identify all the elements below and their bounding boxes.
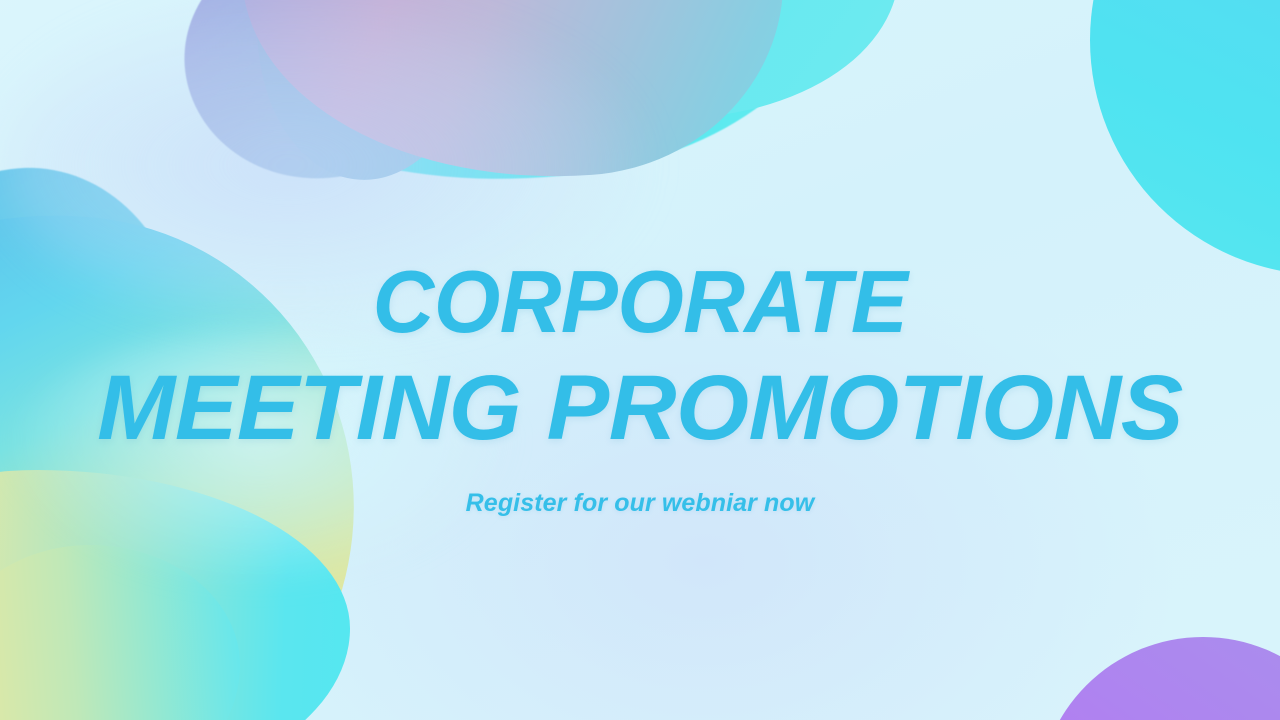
subtitle-text: Register for our webniar now: [0, 489, 1280, 518]
headline-line-2: MEETING PROMOTIONS: [0, 362, 1280, 454]
headline-line-1: CORPORATE: [19, 258, 1261, 346]
slide-content: CORPORATE MEETING PROMOTIONS Register fo…: [0, 0, 1280, 720]
promotional-slide: CORPORATE MEETING PROMOTIONS Register fo…: [0, 0, 1280, 720]
